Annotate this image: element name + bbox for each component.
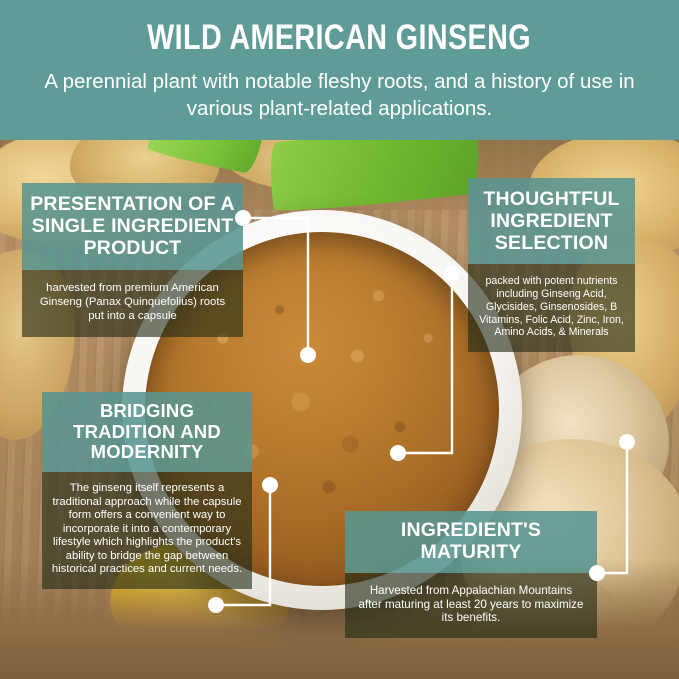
callout-maturity-body: Harvested from Appalachian Mountains aft… (345, 573, 597, 639)
header-banner: WILD AMERICAN GINSENG A perennial plant … (0, 0, 679, 140)
callout-bridging: BRIDGING TRADITION AND MODERNITY The gin… (42, 392, 252, 589)
callout-presentation-body: harvested from premium American Ginseng … (22, 270, 243, 337)
callout-bridging-heading: BRIDGING TRADITION AND MODERNITY (42, 392, 252, 472)
page-subtitle: A perennial plant with notable fleshy ro… (40, 68, 640, 123)
callout-maturity: INGREDIENT'S MATURITY Harvested from App… (345, 511, 597, 638)
callout-presentation: PRESENTATION OF A SINGLE INGREDIENT PROD… (22, 183, 243, 337)
callout-presentation-heading: PRESENTATION OF A SINGLE INGREDIENT PROD… (22, 183, 243, 270)
callout-thoughtful-heading: THOUGHTFUL INGREDIENT SELECTION (468, 178, 635, 264)
callout-thoughtful: THOUGHTFUL INGREDIENT SELECTION packed w… (468, 178, 635, 352)
callout-bridging-body: The ginseng itself represents a traditio… (42, 472, 252, 589)
infographic-poster: WILD AMERICAN GINSENG A perennial plant … (0, 0, 679, 679)
page-title: WILD AMERICAN GINSENG (148, 20, 532, 55)
callout-maturity-heading: INGREDIENT'S MATURITY (345, 511, 597, 573)
callout-thoughtful-body: packed with potent nutrients including G… (468, 264, 635, 352)
